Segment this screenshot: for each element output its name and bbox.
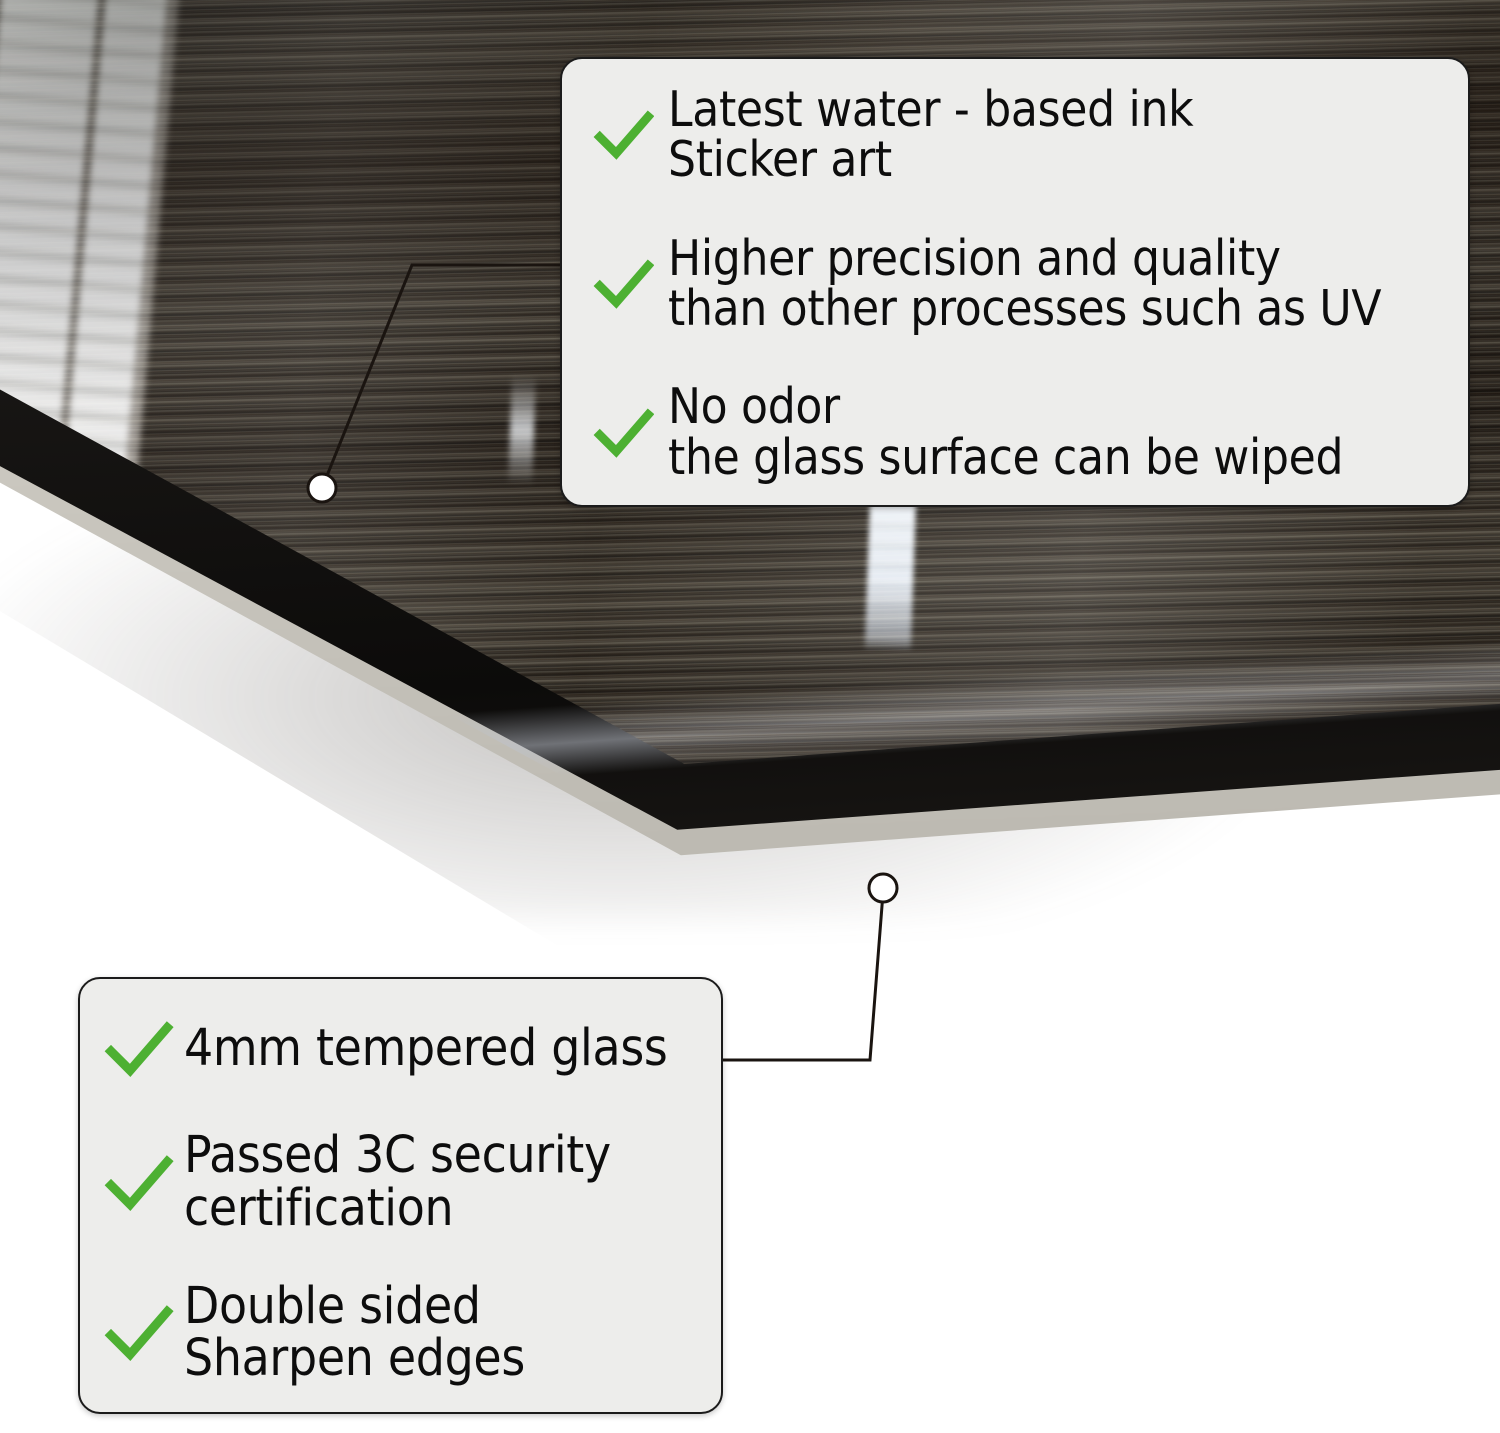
feature-label: Latest water - based ink Sticker art bbox=[668, 85, 1193, 186]
feature-label: No odor the glass surface can be wiped bbox=[668, 382, 1343, 483]
feature-list-bottom: 4mm tempered glass Passed 3C security ce… bbox=[80, 979, 721, 1412]
feature-label: Double sided Sharpen edges bbox=[184, 1281, 525, 1386]
infographic-canvas: Latest water - based ink Sticker art Hig… bbox=[0, 0, 1500, 1433]
feature-item: Higher precision and quality than other … bbox=[592, 234, 1450, 335]
feature-item: No odor the glass surface can be wiped bbox=[592, 382, 1450, 483]
feature-label: Higher precision and quality than other … bbox=[668, 234, 1381, 335]
check-icon bbox=[102, 1013, 174, 1085]
feature-item: 4mm tempered glass bbox=[102, 1013, 703, 1085]
callout-box-glass-spec: 4mm tempered glass Passed 3C security ce… bbox=[78, 977, 723, 1414]
feature-item: Latest water - based ink Sticker art bbox=[592, 85, 1450, 186]
check-icon bbox=[102, 1147, 174, 1219]
check-icon bbox=[592, 104, 654, 166]
callout-box-ink-quality: Latest water - based ink Sticker art Hig… bbox=[560, 57, 1470, 507]
feature-item: Double sided Sharpen edges bbox=[102, 1281, 703, 1386]
check-icon bbox=[102, 1297, 174, 1369]
feature-label: 4mm tempered glass bbox=[184, 1023, 668, 1076]
feature-label: Passed 3C security certification bbox=[184, 1130, 611, 1235]
check-icon bbox=[592, 402, 654, 464]
feature-list-top: Latest water - based ink Sticker art Hig… bbox=[562, 59, 1468, 505]
check-icon bbox=[592, 253, 654, 315]
feature-item: Passed 3C security certification bbox=[102, 1130, 703, 1235]
